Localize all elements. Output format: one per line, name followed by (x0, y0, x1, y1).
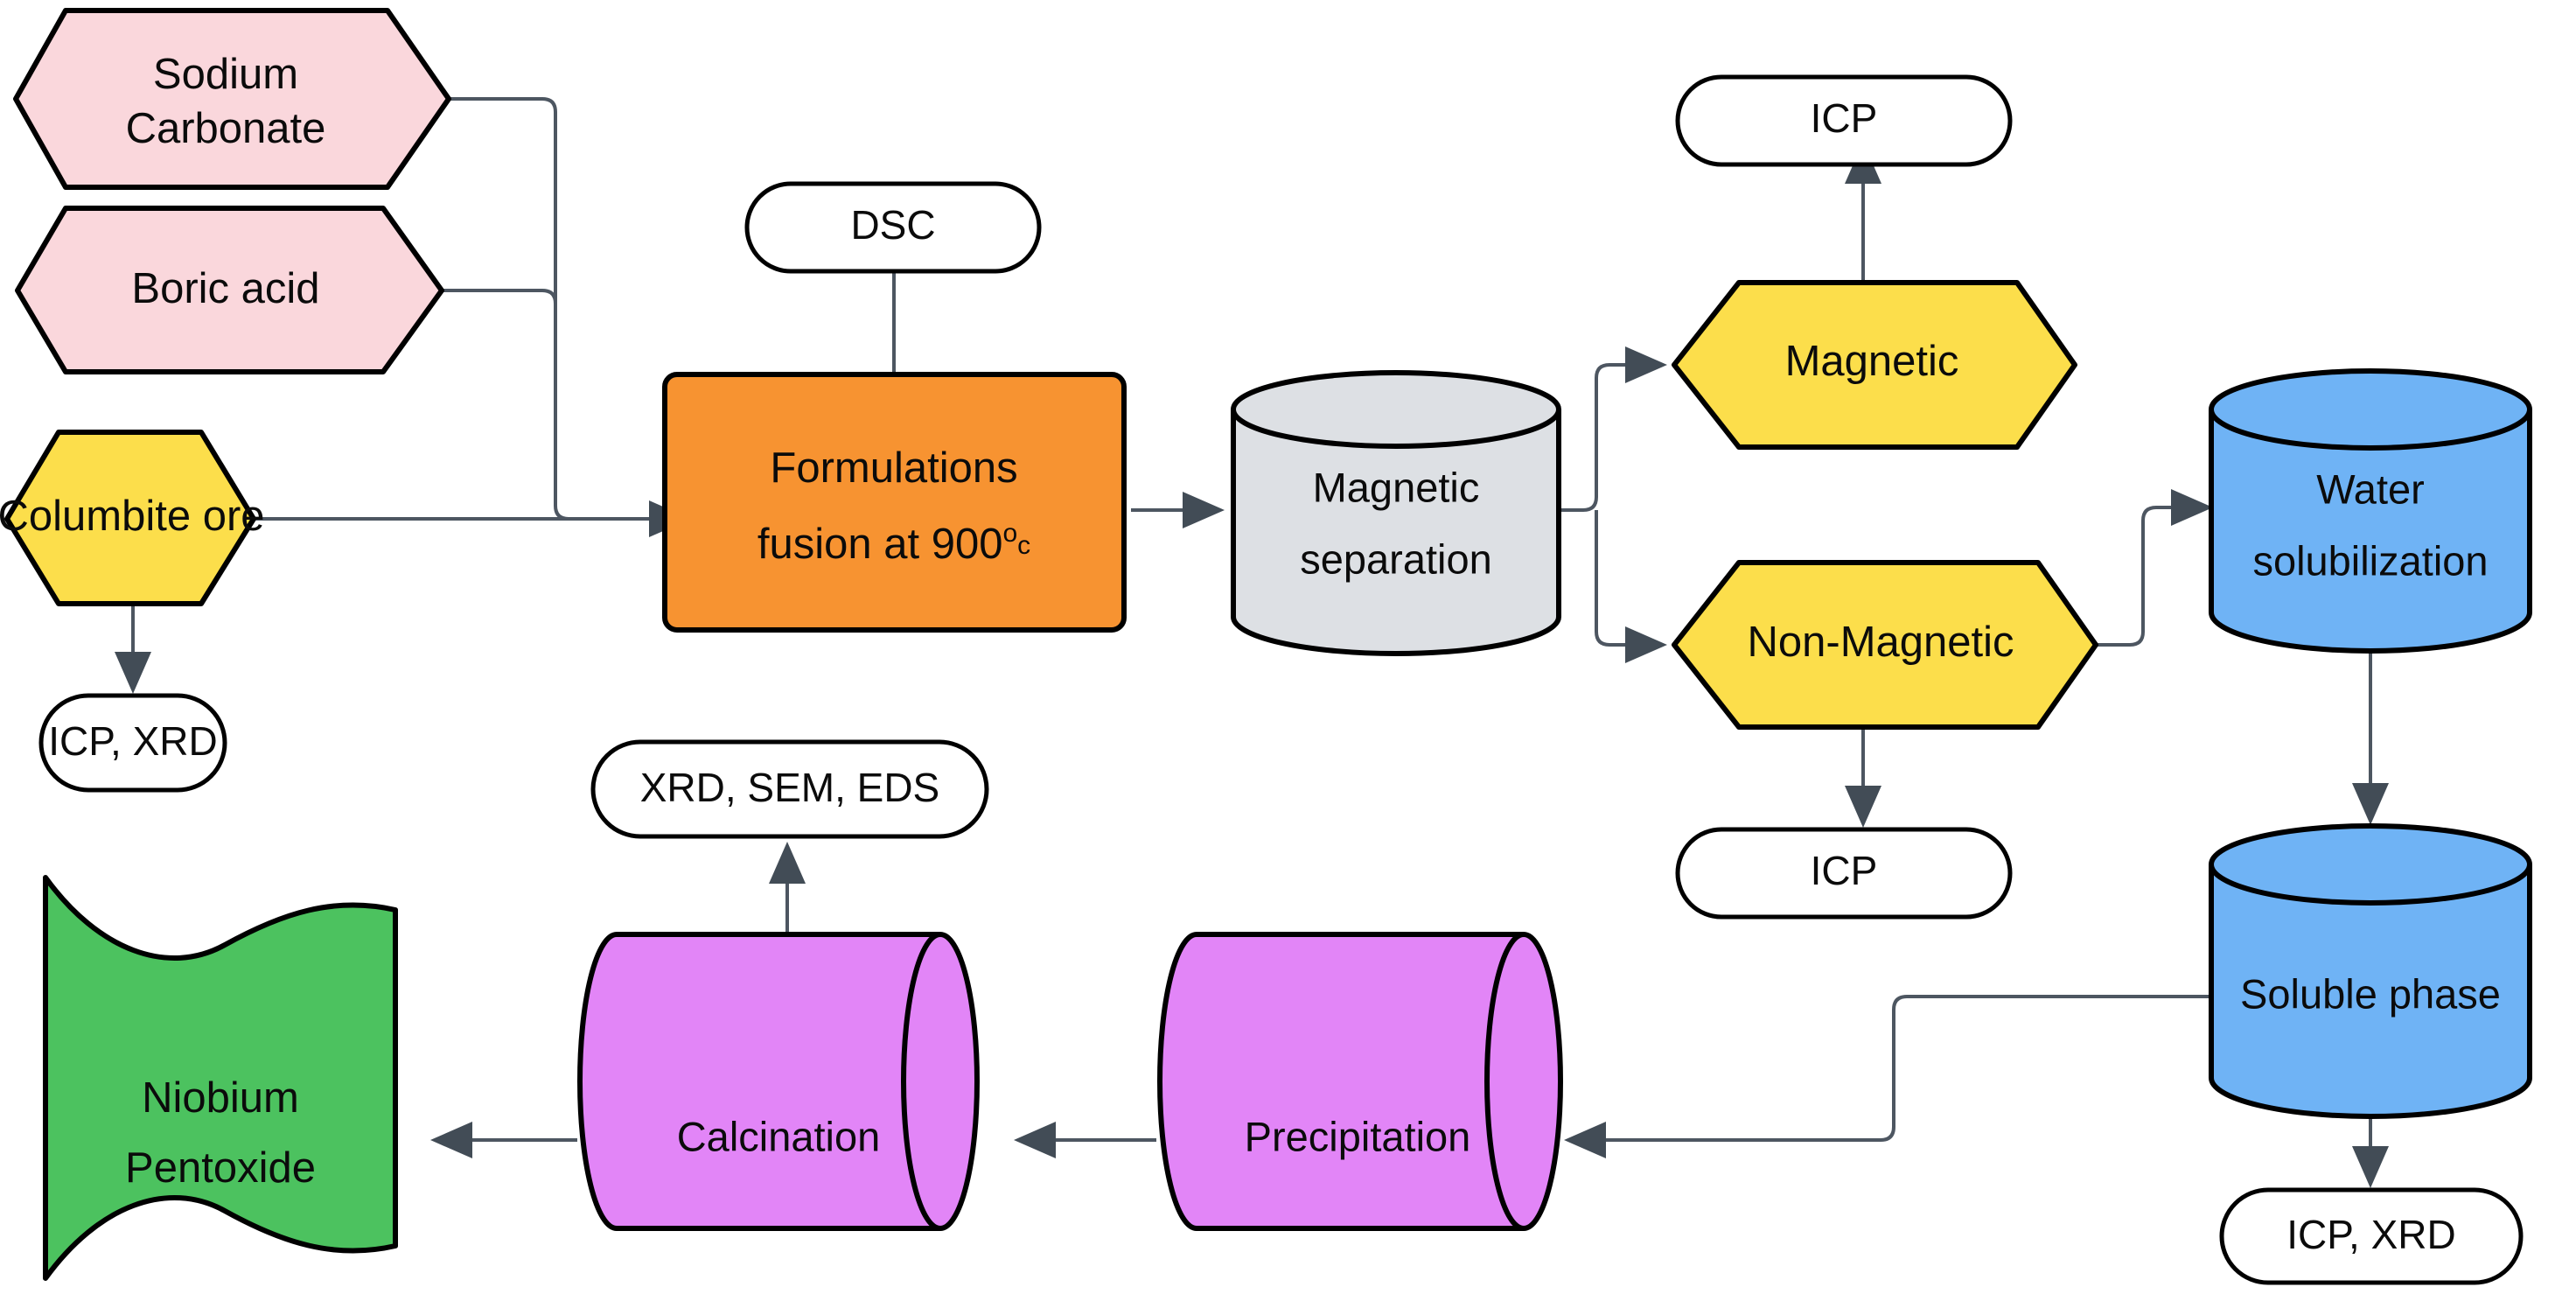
node-non-magnetic[interactable]: Non-Magnetic (1674, 563, 2096, 727)
formulations-celsius-symbol: c (1017, 531, 1030, 560)
node-icp-magnetic[interactable]: ICP (1678, 77, 2010, 164)
edge-soluble-phase-to-precipitation (1597, 997, 2221, 1140)
node-icp-non-magnetic[interactable]: ICP (1678, 829, 2010, 917)
icp-xrd-ore-label: ICP, XRD (48, 718, 217, 764)
node-boric-acid[interactable]: Boric acid (17, 208, 442, 372)
precipitation-cylinder-body[interactable] (1160, 934, 1560, 1228)
arrowhead-to-magnetic (1625, 346, 1667, 383)
sodium-carbonate-hexagon[interactable] (16, 10, 449, 187)
node-xrd-sem-eds[interactable]: XRD, SEM, EDS (593, 742, 987, 836)
node-water-solubilization[interactable]: Water solubilization (2211, 371, 2530, 651)
node-icp-xrd-soluble[interactable]: ICP, XRD (2222, 1190, 2521, 1283)
formulations-label-line1: Formulations (770, 444, 1017, 492)
node-calcination[interactable]: Calcination (580, 934, 977, 1228)
node-sodium-carbonate[interactable]: Sodium Carbonate (16, 10, 449, 187)
sodium-carbonate-label-line2: Carbonate (126, 105, 326, 152)
formulations-rect[interactable] (665, 374, 1124, 630)
boric-acid-label: Boric acid (131, 265, 319, 312)
arrowhead-to-icp-xrd-soluble (2352, 1146, 2389, 1188)
magnetic-separation-cylinder-body[interactable] (1233, 373, 1559, 654)
node-magnetic-separation[interactable]: Magnetic separation (1233, 373, 1559, 654)
water-solubilization-label-line2: solubilization (2252, 537, 2488, 584)
icp-magnetic-label: ICP (1811, 95, 1878, 141)
icp-non-magnetic-label: ICP (1811, 848, 1878, 893)
calcination-cylinder-body[interactable] (580, 934, 977, 1228)
node-icp-xrd-ore[interactable]: ICP, XRD (41, 696, 225, 790)
arrowhead-to-soluble-phase (2352, 783, 2389, 825)
flowchart-canvas: Sodium Carbonate Boric acid Columbite or… (0, 0, 2576, 1294)
non-magnetic-label: Non-Magnetic (1747, 619, 2014, 666)
formulations-label-line2: fusion at 900oc (757, 519, 1030, 568)
arrowhead-to-precipitation (1564, 1122, 1606, 1158)
xrd-sem-eds-label: XRD, SEM, EDS (640, 765, 940, 810)
dsc-label: DSC (850, 202, 935, 248)
icp-xrd-soluble-label: ICP, XRD (2286, 1212, 2455, 1257)
soluble-phase-label: Soluble phase (2240, 970, 2501, 1017)
node-formulations[interactable]: Formulations fusion at 900oc (665, 374, 1124, 630)
arrowhead-to-magnetic-separation (1183, 492, 1225, 528)
flowchart-svg: Sodium Carbonate Boric acid Columbite or… (0, 0, 2576, 1294)
edge-non-magnetic-to-water-solubilization (2095, 507, 2180, 645)
precipitation-label: Precipitation (1245, 1113, 1471, 1159)
arrowhead-to-icp-non-magnetic (1845, 786, 1881, 828)
node-precipitation[interactable]: Precipitation (1160, 934, 1560, 1228)
arrowhead-to-icp-xrd-ore (115, 652, 151, 694)
edge-magnetic-separation-to-magnetic (1559, 365, 1634, 510)
formulations-degree-symbol: o (1002, 519, 1017, 548)
node-columbite-ore[interactable]: Columbite ore (0, 432, 265, 604)
arrowhead-to-calcination (1014, 1122, 1056, 1158)
arrowhead-to-water-solubilization (2171, 489, 2213, 526)
node-niobium-pentoxide[interactable]: Niobium Pentoxide (45, 878, 395, 1278)
water-solubilization-label-line1: Water (2316, 465, 2425, 512)
magnetic-separation-label-line1: Magnetic (1313, 464, 1480, 510)
edge-sodium-carbonate-to-formulations (449, 99, 658, 519)
node-magnetic[interactable]: Magnetic (1674, 283, 2075, 447)
edge-magnetic-separation-to-non-magnetic (1596, 510, 1634, 645)
arrowhead-to-niobium-pentoxide (430, 1122, 472, 1158)
node-soluble-phase[interactable]: Soluble phase (2211, 826, 2530, 1116)
niobium-pentoxide-label-line1: Niobium (142, 1074, 299, 1122)
columbite-ore-label: Columbite ore (0, 493, 265, 540)
arrowhead-to-non-magnetic (1625, 626, 1667, 663)
arrowhead-to-xrd-sem-eds (769, 842, 806, 884)
niobium-pentoxide-label-line2: Pentoxide (125, 1144, 316, 1192)
magnetic-separation-label-line2: separation (1300, 535, 1492, 582)
magnetic-label: Magnetic (1785, 338, 1959, 385)
edge-boric-acid-to-formulations (442, 290, 555, 304)
node-dsc[interactable]: DSC (747, 184, 1039, 271)
calcination-label: Calcination (677, 1113, 881, 1159)
formulations-temp-text: fusion at 900 (757, 521, 1003, 568)
sodium-carbonate-label-line1: Sodium (153, 51, 298, 98)
